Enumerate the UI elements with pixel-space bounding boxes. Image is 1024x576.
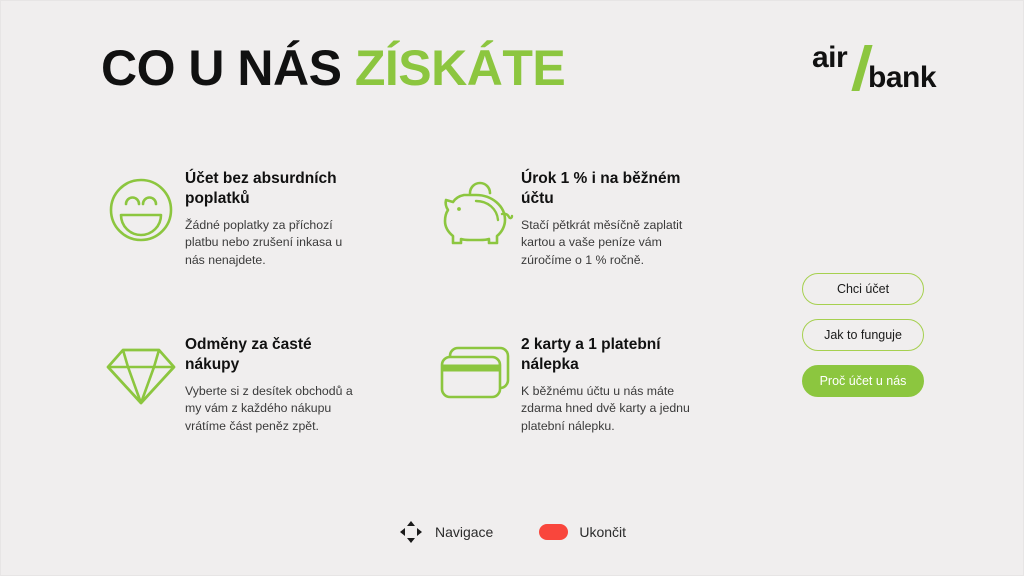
logo-text-bank: bank [868, 61, 936, 95]
side-action-buttons: Chci účet Jak to funguje Proč účet u nás [802, 273, 924, 397]
feature-body: K běžnému účtu u nás máte zdarma hned dv… [521, 383, 696, 435]
navigate-hint[interactable]: Navigace [398, 519, 493, 545]
exit-label: Ukončit [579, 524, 626, 540]
proc-ucet-u-nas-button[interactable]: Proč účet u nás [802, 365, 924, 397]
feature-title: Úrok 1 % i na běžném účtu [521, 169, 691, 210]
feature-text-wrap: Odměny za časté nákupy Vyberte si z desí… [185, 335, 397, 435]
feature-title: Odměny za časté nákupy [185, 335, 355, 376]
feature-text-wrap: Úrok 1 % i na běžném účtu Stačí pětkrát … [521, 169, 733, 269]
red-pill-button-icon [539, 524, 568, 540]
feature-icon-wrap [97, 169, 185, 243]
exit-hint[interactable]: Ukončit [539, 524, 626, 540]
chci-ucet-button[interactable]: Chci účet [802, 273, 924, 305]
dpad-arrows-icon [398, 519, 424, 545]
feature-text-wrap: 2 karty a 1 platební nálepka K běžnému ú… [521, 335, 733, 435]
airbank-logo: air bank [806, 43, 951, 99]
page-title-dark: CO U NÁS [101, 40, 341, 96]
feature-card-rewards: Odměny za časté nákupy Vyberte si z desí… [97, 335, 397, 435]
piggy-bank-icon [440, 177, 514, 245]
feature-card-interest-rate: Úrok 1 % i na běžném účtu Stačí pětkrát … [433, 169, 733, 269]
feature-icon-wrap [433, 335, 521, 405]
feature-card-account-no-fees: Účet bez absurdních poplatků Žádné popla… [97, 169, 397, 269]
feature-body: Žádné poplatky za příchozí platbu nebo z… [185, 217, 360, 269]
feature-title: Účet bez absurdních poplatků [185, 169, 355, 210]
jak-to-funguje-button[interactable]: Jak to funguje [802, 319, 924, 351]
diamond-icon [106, 343, 176, 407]
feature-body: Stačí pětkrát měsíčně zaplatit kartou a … [521, 217, 696, 269]
kiosk-screen: CO U NÁS ZÍSKÁTE air bank Účet bez absur… [0, 0, 1024, 576]
logo-text-air: air [812, 41, 847, 75]
feature-card-payment-cards: 2 karty a 1 platební nálepka K běžnému ú… [433, 335, 733, 435]
feature-text-wrap: Účet bez absurdních poplatků Žádné popla… [185, 169, 397, 269]
feature-title: 2 karty a 1 platební nálepka [521, 335, 691, 376]
page-title: CO U NÁS ZÍSKÁTE [101, 43, 565, 93]
bottom-hint-bar: Navigace Ukončit [1, 519, 1023, 545]
smiley-face-icon [108, 177, 174, 243]
payment-cards-icon [439, 343, 515, 405]
navigate-label: Navigace [435, 524, 493, 540]
feature-icon-wrap [433, 169, 521, 245]
feature-body: Vyberte si z desítek obchodů a my vám z … [185, 383, 360, 435]
page-title-accent: ZÍSKÁTE [355, 40, 565, 96]
feature-icon-wrap [97, 335, 185, 407]
